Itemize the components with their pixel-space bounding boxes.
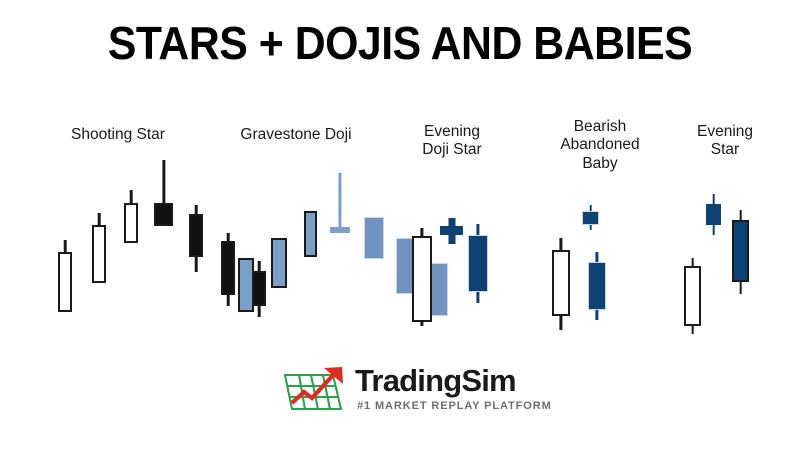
candle-bull-1 xyxy=(58,0,72,450)
candle-body xyxy=(330,227,350,233)
candle-bull-2 xyxy=(92,0,106,450)
candle-body xyxy=(238,258,254,312)
candle-body xyxy=(271,238,287,288)
tradingsim-logo[interactable]: TradingSim #1 MARKET REPLAY PLATFORM xyxy=(283,363,523,425)
candle-bull-candle xyxy=(552,0,570,450)
candle-body xyxy=(58,252,72,312)
candle-body xyxy=(92,225,106,283)
candle-bear-candle xyxy=(732,0,749,450)
infographic-canvas: STARS + DOJIS AND BABIES Shooting StarGr… xyxy=(0,0,800,450)
candle-body xyxy=(154,203,173,226)
candle-body xyxy=(412,236,432,322)
candle-body xyxy=(304,211,317,257)
doji-horizontal-bar xyxy=(440,226,463,235)
tradingsim-logo-tagline: #1 MARKET REPLAY PLATFORM xyxy=(357,400,552,412)
candle-body xyxy=(732,220,749,282)
candle-wick xyxy=(338,173,341,233)
candle-bear-candle xyxy=(588,0,606,450)
pattern-evening-star: Evening Star xyxy=(660,0,790,450)
candle-body xyxy=(706,204,721,225)
candle-body xyxy=(124,203,138,243)
candle-bull-1 xyxy=(238,0,254,450)
candle-body xyxy=(552,250,570,316)
candle-body xyxy=(684,266,701,326)
candlestick-chart-bearish-abandoned-baby xyxy=(530,0,670,450)
tradingsim-logo-text: TradingSim xyxy=(355,363,516,399)
candle-bull-candle xyxy=(684,0,701,450)
pattern-shooting-star: Shooting Star xyxy=(18,0,218,450)
candle-body xyxy=(588,262,606,310)
candle-bull-3 xyxy=(124,0,138,450)
tradingsim-logo-icon xyxy=(283,365,349,415)
candlestick-chart-evening-star xyxy=(660,0,790,450)
candle-star-candle xyxy=(706,0,721,450)
candle-body xyxy=(468,235,488,292)
pattern-bearish-abandoned-baby: Bearish Abandoned Baby xyxy=(530,0,670,450)
candlestick-chart-shooting-star xyxy=(18,0,218,450)
candle-body xyxy=(364,217,384,259)
candle-shooting-star-candle xyxy=(154,0,173,450)
